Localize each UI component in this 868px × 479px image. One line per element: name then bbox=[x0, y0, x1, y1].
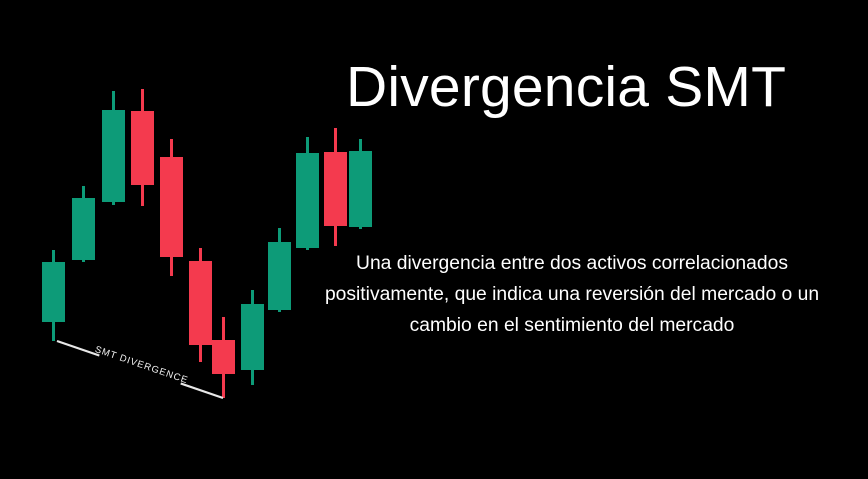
candle-body-bearish bbox=[160, 157, 183, 257]
smt-divergence-annotation: SMT DIVERGENCE bbox=[57, 341, 223, 398]
candle-group bbox=[42, 89, 372, 398]
candle-body-bullish bbox=[72, 198, 95, 260]
candlestick-chart: SMT DIVERGENCE bbox=[0, 0, 420, 479]
candle-body-bullish bbox=[102, 110, 125, 202]
candle-body-bearish bbox=[324, 152, 347, 226]
candle-body-bearish bbox=[212, 340, 235, 374]
candle-body-bullish bbox=[42, 262, 65, 322]
slide-canvas: SMT DIVERGENCE Divergencia SMT Una diver… bbox=[0, 0, 868, 479]
candle-body-bullish bbox=[268, 242, 291, 310]
page-title: Divergencia SMT bbox=[346, 57, 846, 117]
annotation-label: SMT DIVERGENCE bbox=[93, 344, 189, 386]
candlestick-svg: SMT DIVERGENCE bbox=[0, 0, 420, 479]
candle-body-bullish bbox=[349, 151, 372, 227]
candle-body-bearish bbox=[189, 261, 212, 345]
candle-body-bearish bbox=[131, 111, 154, 185]
candle-body-bullish bbox=[296, 153, 319, 248]
candle-body-bullish bbox=[241, 304, 264, 370]
